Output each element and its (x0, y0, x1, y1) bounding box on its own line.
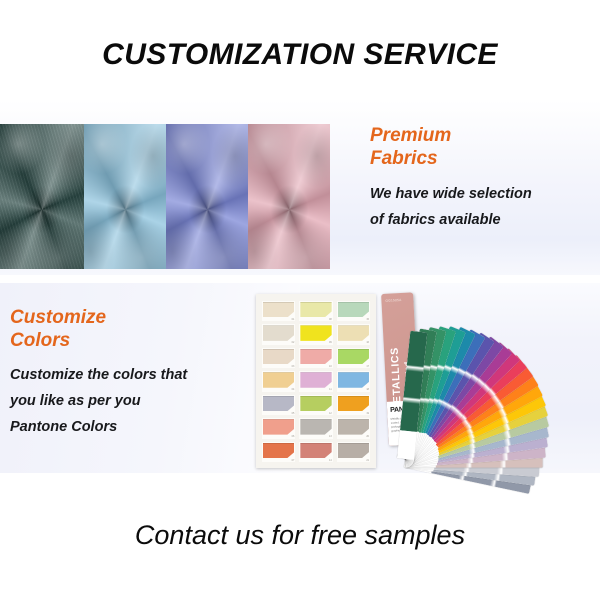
color-chip-code: 02 (292, 342, 295, 344)
color-chip-cell: 20 (337, 418, 370, 438)
premium-body-text: We have wide selection of fabrics availa… (370, 182, 595, 234)
blade-label-tip (397, 430, 417, 460)
footer-cta: Contact us for free samples (0, 520, 600, 551)
color-chip-cell: 16 (337, 324, 370, 344)
customize-body-line3: Pantone Colors (10, 415, 260, 441)
color-chip-cell: 13 (299, 418, 332, 438)
color-chip-cell: 17 (337, 348, 370, 368)
color-chip-cell: 06 (262, 418, 295, 438)
customize-headline-line2: Colors (10, 329, 260, 352)
customize-body-text: Customize the colors that you like as pe… (10, 363, 260, 440)
color-chip-cell: 04 (262, 371, 295, 391)
color-chip-code: 18 (366, 389, 369, 391)
fabric-fold-shading (0, 124, 84, 269)
color-chip (300, 443, 331, 458)
premium-headline-line2: Fabrics (370, 147, 595, 170)
color-chip-code: 03 (292, 366, 295, 368)
light-blue-fabric (84, 124, 166, 269)
color-chip-code: 01 (292, 319, 295, 321)
customize-headline-line1: Customize (10, 306, 260, 329)
color-chip (300, 396, 331, 411)
color-chip-code: 15 (366, 319, 369, 321)
color-chip (263, 443, 294, 458)
color-chip-cell: 08 (299, 301, 332, 321)
color-chip-cell: 14 (299, 442, 332, 462)
color-chip (263, 396, 294, 411)
pantone-metallics-fan-deck: GG1505A METALLICS Solid Coated PANTONE® … (383, 287, 588, 475)
premium-body-line2: of fabrics available (370, 208, 595, 234)
color-chip (263, 325, 294, 340)
color-chip-code: 09 (329, 342, 332, 344)
color-chip-cell: 19 (337, 395, 370, 415)
color-chip-code: 20 (366, 436, 369, 438)
color-chip (300, 325, 331, 340)
color-chip-cell: 02 (262, 324, 295, 344)
color-chip (338, 302, 369, 317)
customize-body-line2: you like as per you (10, 389, 260, 415)
fabric-fold-shading (84, 124, 166, 269)
premium-headline-line1: Premium (370, 124, 595, 147)
color-chip-code: 10 (329, 366, 332, 368)
color-chip (263, 419, 294, 434)
color-chip-cell: 15 (337, 301, 370, 321)
premium-headline: Premium Fabrics (370, 124, 595, 170)
color-chip-code: 16 (366, 342, 369, 344)
color-chip-code: 21 (366, 460, 369, 462)
color-chip (263, 302, 294, 317)
premium-fabrics-section: Premium Fabrics We have wide selection o… (370, 124, 595, 234)
color-chip-code: 17 (366, 366, 369, 368)
color-chip-code: 08 (329, 319, 332, 321)
color-chip-cell: 21 (337, 442, 370, 462)
color-chip (338, 443, 369, 458)
color-chip-code: 12 (329, 413, 332, 415)
color-chip (338, 419, 369, 434)
color-chip-code: 05 (292, 413, 295, 415)
color-chip-cell: 03 (262, 348, 295, 368)
color-chip-code: 13 (329, 436, 332, 438)
color-chip-cell: 12 (299, 395, 332, 415)
color-chip (263, 349, 294, 364)
color-chip-code: 04 (292, 389, 295, 391)
periwinkle-fabric (166, 124, 248, 269)
color-chip (300, 372, 331, 387)
color-chip-code: 07 (292, 460, 295, 462)
color-chip (300, 349, 331, 364)
premium-body-line1: We have wide selection (370, 182, 595, 208)
color-chip-cell: 01 (262, 301, 295, 321)
pantone-color-swatch-card: 0108150209160310170411180512190613200714… (256, 294, 376, 468)
color-chip (338, 325, 369, 340)
promo-poster: CUSTOMIZATION SERVICE Premium Fabrics We… (0, 0, 600, 601)
color-chip-cell: 18 (337, 371, 370, 391)
dark-teal-fabric (0, 124, 84, 269)
color-chip-code: 19 (366, 413, 369, 415)
color-chip-code: 06 (292, 436, 295, 438)
color-chip (300, 419, 331, 434)
color-chip (338, 396, 369, 411)
color-chip-cell: 10 (299, 348, 332, 368)
color-chip (338, 372, 369, 387)
color-chip-code: 11 (329, 389, 331, 391)
fabric-fold-shading (248, 124, 330, 269)
color-chip-cell: 07 (262, 442, 295, 462)
customize-colors-section: Customize Colors Customize the colors th… (10, 306, 260, 441)
color-chip-cell: 09 (299, 324, 332, 344)
color-chip (263, 372, 294, 387)
customize-body-line1: Customize the colors that (10, 363, 260, 389)
color-chip-cell: 11 (299, 371, 332, 391)
fabric-image-strip (0, 124, 330, 269)
pink-fabric (248, 124, 330, 269)
color-chip (300, 302, 331, 317)
fabric-fold-shading (166, 124, 248, 269)
color-chip-code: 14 (329, 460, 332, 462)
color-chip-cell: 05 (262, 395, 295, 415)
customize-headline: Customize Colors (10, 306, 260, 352)
color-chip (338, 349, 369, 364)
page-title: CUSTOMIZATION SERVICE (0, 38, 600, 72)
